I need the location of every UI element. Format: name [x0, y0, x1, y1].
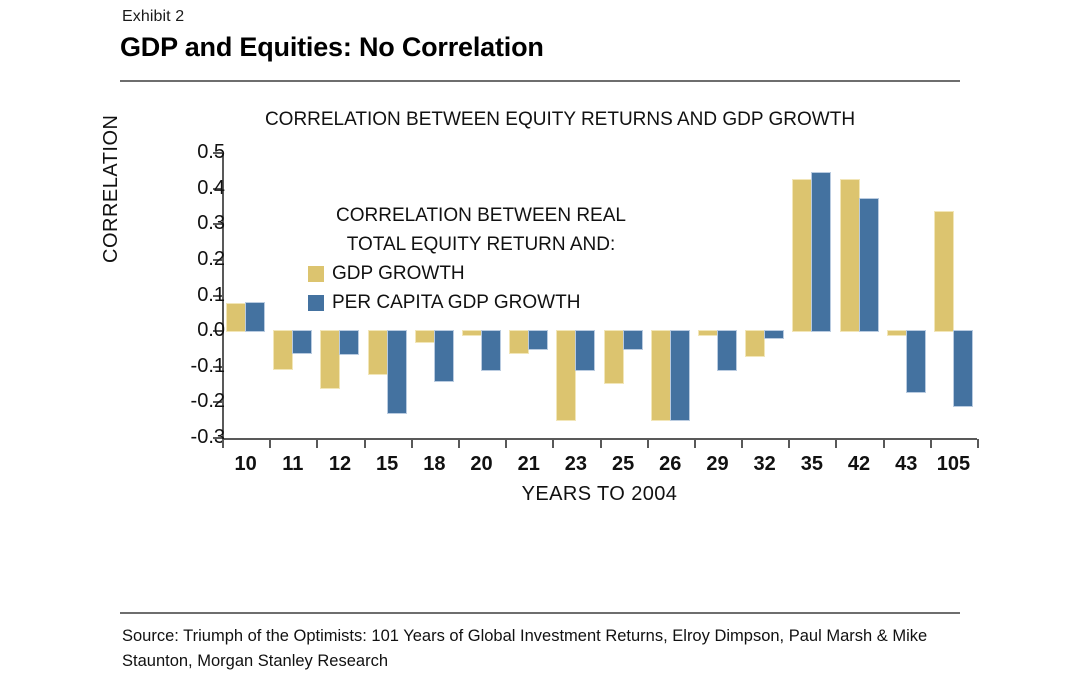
bar	[888, 331, 906, 335]
legend-heading-line1: CORRELATION BETWEEN REAL	[286, 201, 676, 230]
bar	[718, 331, 736, 370]
bar	[321, 331, 339, 388]
y-axis-tick-label: 0.3	[155, 212, 225, 235]
bar	[624, 331, 642, 349]
x-axis-tick	[694, 439, 696, 448]
legend-item-label: PER CAPITA GDP GROWTH	[332, 292, 580, 314]
legend-swatch-icon	[308, 266, 324, 282]
legend-item-gdp-growth: GDP GROWTH	[308, 259, 676, 288]
footer-divider	[120, 612, 960, 614]
legend-item-label: GDP GROWTH	[332, 263, 465, 285]
x-axis-tick	[977, 439, 979, 448]
bar	[557, 331, 575, 420]
legend-item-per-capita-gdp-growth: PER CAPITA GDP GROWTH	[308, 288, 676, 317]
y-axis-tick-label: 0.5	[155, 141, 225, 164]
x-axis-tick	[600, 439, 602, 448]
y-axis-tick-label: 0.0	[155, 319, 225, 342]
bar	[907, 331, 925, 392]
x-axis-tick	[411, 439, 413, 448]
bar	[841, 180, 859, 331]
x-axis-tick-label: 105	[923, 453, 983, 476]
source-note: Source: Triumph of the Optimists: 101 Ye…	[122, 624, 1002, 674]
exhibit-label: Exhibit 2	[122, 8, 184, 26]
bar	[605, 331, 623, 383]
x-axis-tick	[741, 439, 743, 448]
x-axis-tick	[647, 439, 649, 448]
bar	[699, 331, 717, 335]
bar	[274, 331, 292, 368]
chart-legend: CORRELATION BETWEEN REAL TOTAL EQUITY RE…	[286, 201, 676, 317]
bar	[246, 303, 264, 332]
x-axis-tick	[316, 439, 318, 448]
y-axis-tick-label: -0.3	[155, 426, 225, 449]
bar	[463, 331, 481, 335]
y-axis-tick-label: -0.1	[155, 355, 225, 378]
bar	[765, 331, 783, 338]
bar	[652, 331, 670, 420]
bar	[812, 173, 830, 332]
bar	[227, 304, 245, 331]
x-axis-title: YEARS TO 2004	[222, 483, 977, 506]
chart-container: CORRELATION BETWEEN EQUITY RETURNS AND G…	[0, 86, 1080, 586]
x-axis-tick	[505, 439, 507, 448]
y-axis-tick-label: 0.1	[155, 284, 225, 307]
x-axis-tick	[835, 439, 837, 448]
x-axis-tick	[788, 439, 790, 448]
bar	[435, 331, 453, 381]
legend-heading-line2: TOTAL EQUITY RETURN AND:	[286, 230, 676, 259]
bar	[793, 180, 811, 331]
bar	[529, 331, 547, 349]
y-axis-tick-label: 0.2	[155, 248, 225, 271]
bar	[860, 199, 878, 331]
x-axis-tick	[552, 439, 554, 448]
x-axis-tick	[222, 439, 224, 448]
x-axis-tick	[883, 439, 885, 448]
legend-swatch-icon	[308, 295, 324, 311]
bar	[482, 331, 500, 370]
chart-title: CORRELATION BETWEEN EQUITY RETURNS AND G…	[190, 106, 930, 134]
page-title: GDP and Equities: No Correlation	[120, 32, 544, 63]
x-axis-tick	[269, 439, 271, 448]
bar	[510, 331, 528, 352]
bar	[369, 331, 387, 374]
bar	[340, 331, 358, 354]
bar	[388, 331, 406, 413]
y-axis-title: CORRELATION	[100, 115, 123, 263]
bar	[746, 331, 764, 356]
y-axis-tick-label: 0.4	[155, 177, 225, 200]
bar	[293, 331, 311, 352]
x-axis-tick	[364, 439, 366, 448]
bar	[935, 212, 953, 331]
bar	[576, 331, 594, 370]
header-divider	[120, 80, 960, 82]
x-axis-tick	[930, 439, 932, 448]
x-axis-tick	[458, 439, 460, 448]
bar	[671, 331, 689, 420]
bar	[954, 331, 972, 406]
slide-page: Exhibit 2 GDP and Equities: No Correlati…	[0, 0, 1080, 678]
y-axis-tick-label: -0.2	[155, 390, 225, 413]
bar	[416, 331, 434, 342]
